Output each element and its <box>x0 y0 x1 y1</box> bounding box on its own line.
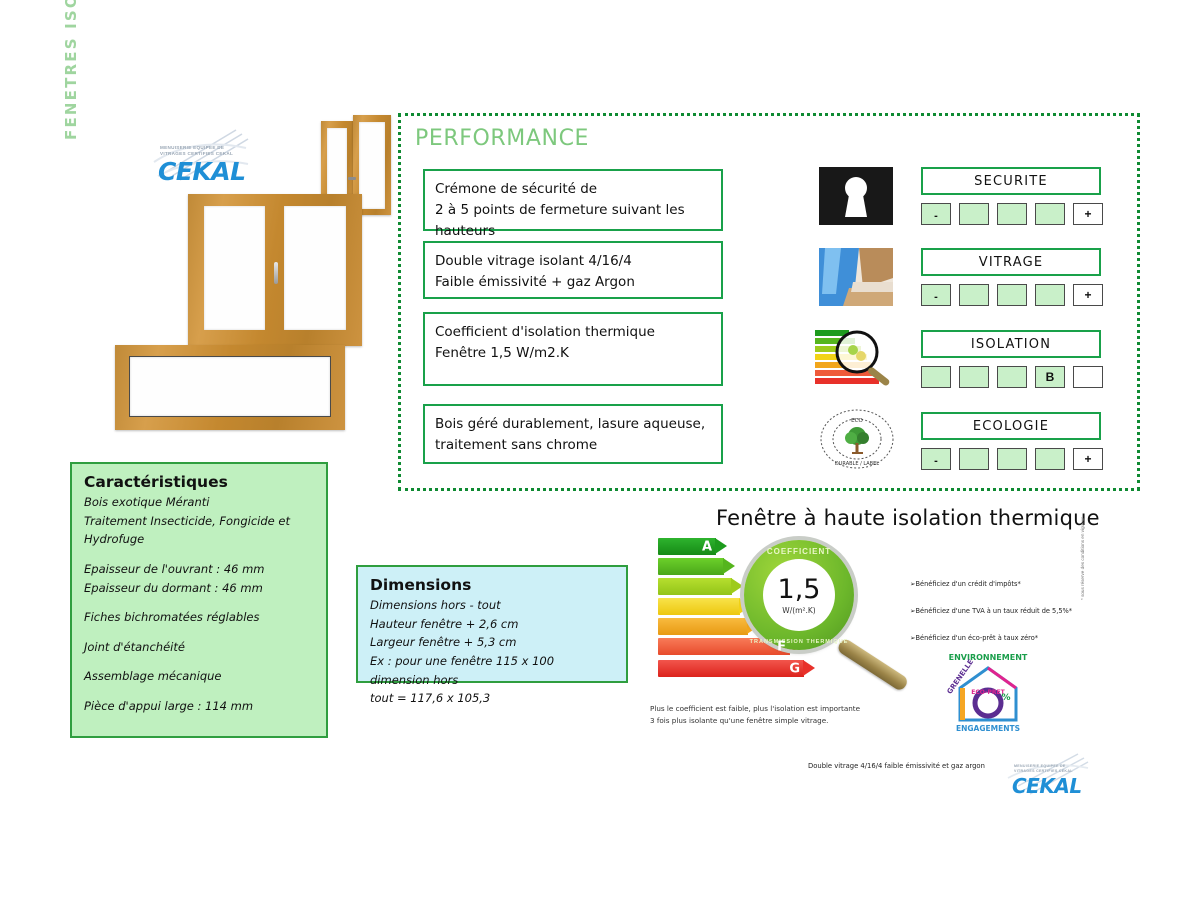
energy-note-line-2: 3 fois plus isolante qu'une fenêtre simp… <box>650 715 900 727</box>
rating-segment[interactable]: + <box>1073 203 1103 225</box>
dimensions-line: Ex : pour une fenêtre 115 x 100 dimensio… <box>370 652 614 689</box>
energy-bar-letter-A: A <box>702 539 712 554</box>
performance-panel: PERFORMANCE Crémone de sécurité de2 à 5 … <box>398 113 1140 491</box>
caracteristiques-line: Epaisseur du dormant : 46 mm <box>84 579 314 598</box>
rating-segment[interactable] <box>1035 203 1065 225</box>
dimensions-box: Dimensions Dimensions hors - tout Hauteu… <box>356 565 628 683</box>
rating-segments-vitrage: - + <box>921 284 1103 306</box>
rating-segments-ecologie: - + <box>921 448 1103 470</box>
performance-feature-box-2: Double vitrage isolant 4/16/4Faible émis… <box>423 241 723 299</box>
caracteristiques-line: Joint d'étanchéité <box>84 638 314 657</box>
caracteristiques-line: Fiches bichromatées réglables <box>84 608 314 627</box>
caracteristiques-line: Epaisseur de l'ouvrant : 46 mm <box>84 560 314 579</box>
rating-segment[interactable] <box>1073 366 1103 388</box>
promo-side-note: * sous réserve des conditions en vigueur <box>1080 510 1085 600</box>
rating-segment[interactable]: - <box>921 203 951 225</box>
grenelle-top-text: ENVIRONNEMENT <box>949 653 1028 662</box>
grenelle-bottom-text: ENGAGEMENTS <box>956 724 1020 733</box>
cekal-logo: MENUISERIE EQUIPEE DE VITRAGES CERTIFIES… <box>150 128 250 186</box>
cekal-wordmark: CEKAL <box>158 157 246 186</box>
caracteristiques-title: Caractéristiques <box>84 473 314 491</box>
coefficient-magnifier: COEFFICIENT TRANSMISSION THERMIQUE 1,5 W… <box>744 540 854 650</box>
cekal-wordmark: CEKAL <box>1012 774 1082 798</box>
svg-text:DURABLE / LABEL: DURABLE / LABEL <box>835 461 879 467</box>
magnifier-ring: COEFFICIENT TRANSMISSION THERMIQUE 1,5 W… <box>744 540 854 650</box>
performance-feature-box-1: Crémone de sécurité de2 à 5 points de fe… <box>423 169 723 231</box>
rating-segment[interactable] <box>1035 448 1065 470</box>
energy-bar-letter-G: G <box>789 661 800 676</box>
window-glazing-icon <box>819 248 893 306</box>
dimensions-line: Largeur fenêtre + 5,3 cm <box>370 633 614 652</box>
magnifier-lens: 1,5 W/(m².K) <box>763 559 835 631</box>
grenelle-badge-line1: ECO-PRET <box>971 689 1005 696</box>
rating-label-isolation: ISOLATION <box>921 330 1101 358</box>
energy-note: Plus le coefficient est faible, plus l'i… <box>650 703 900 727</box>
rating-segment-active[interactable]: B <box>1035 366 1065 388</box>
rating-segment[interactable]: + <box>1073 284 1103 306</box>
rating-label-ecologie: ECOLOGIE <box>921 412 1101 440</box>
performance-feature-box-4: Bois géré durablement, lasure aqueuse,tr… <box>423 404 723 464</box>
rating-segment[interactable] <box>921 366 951 388</box>
coefficient-unit: W/(m².K) <box>782 606 815 615</box>
rating-segment[interactable] <box>1035 284 1065 306</box>
rating-segment[interactable] <box>959 284 989 306</box>
benefit-item: ➢Bénéficiez d'un crédit d'impôts* <box>910 580 1090 588</box>
poster-root: FENETRES ISOLANTE MT 46 MM MENUISERIE EQ… <box>0 0 1202 901</box>
energy-magnifier-icon <box>815 328 895 390</box>
keyhole-icon <box>819 167 893 225</box>
cekal-logo-bottom: MENUISERIE EQUIPEE DE VITRAGES CERTIFIES… <box>1006 752 1090 798</box>
magnifier-arc-bottom: TRANSMISSION THERMIQUE <box>744 639 854 645</box>
caracteristiques-line: Pièce d'appui large : 114 mm <box>84 697 314 716</box>
vertical-product-title: FENETRES ISOLANTE MT 46 MM <box>62 0 92 140</box>
window-photo-double-casement <box>188 194 362 346</box>
caracteristiques-line: Hydrofuge <box>84 530 314 549</box>
grenelle-badge-line2: % <box>1001 693 1010 703</box>
rating-label-securite: SECURITE <box>921 167 1101 195</box>
magnifier-arc-top: COEFFICIENT <box>744 547 854 556</box>
rating-segment[interactable] <box>997 203 1027 225</box>
rating-segment[interactable] <box>997 448 1027 470</box>
rating-segment[interactable] <box>959 203 989 225</box>
grenelle-environnement-logo: ECO-PRET % ENVIRONNEMENT GRENELLE ENGAGE… <box>940 648 1036 734</box>
benefit-item: ➢Bénéficiez d'une TVA à un taux réduit d… <box>910 607 1090 615</box>
dimensions-line: tout = 117,6 x 105,3 <box>370 689 614 708</box>
energy-note-line-1: Plus le coefficient est faible, plus l'i… <box>650 703 900 715</box>
benefit-item: ➢Bénéficiez d'un éco-prêt à taux zéro* <box>910 634 1090 642</box>
energy-bar-letter-F: F <box>777 639 786 654</box>
performance-title: PERFORMANCE <box>415 126 589 151</box>
caracteristiques-line: Assemblage mécanique <box>84 667 314 686</box>
rating-segment[interactable] <box>997 284 1027 306</box>
caracteristiques-line: Bois exotique Méranti <box>84 493 314 512</box>
dimensions-line: Hauteur fenêtre + 2,6 cm <box>370 615 614 634</box>
eco-tree-stamp-icon: ECO DURABLE / LABEL <box>819 408 895 470</box>
rating-segment[interactable] <box>997 366 1027 388</box>
bottom-caption: Double vitrage 4/16/4 faible émissivité … <box>808 762 985 770</box>
caracteristiques-box: Caractéristiques Bois exotique Méranti T… <box>70 462 328 738</box>
dimensions-title: Dimensions <box>370 576 614 594</box>
performance-feature-box-3: Coefficient d'isolation thermiqueFenêtre… <box>423 312 723 386</box>
magnifier-handle <box>836 637 910 692</box>
energy-label-chart: A F <box>658 538 888 698</box>
rating-segment[interactable] <box>959 448 989 470</box>
rating-segment[interactable] <box>959 366 989 388</box>
rating-segment[interactable]: - <box>921 284 951 306</box>
promo-title: Fenêtre à haute isolation thermique <box>716 506 1100 530</box>
caracteristiques-line: Traitement Insecticide, Fongicide et <box>84 512 314 531</box>
svg-text:ECO: ECO <box>851 418 863 424</box>
dimensions-line: Dimensions hors - tout <box>370 596 614 615</box>
rating-segment[interactable]: - <box>921 448 951 470</box>
rating-segment[interactable]: + <box>1073 448 1103 470</box>
rating-segments-isolation: B <box>921 366 1103 388</box>
coefficient-value: 1,5 <box>778 576 821 603</box>
rating-segments-securite: - + <box>921 203 1103 225</box>
rating-label-vitrage: VITRAGE <box>921 248 1101 276</box>
window-photo-transom <box>115 345 345 430</box>
